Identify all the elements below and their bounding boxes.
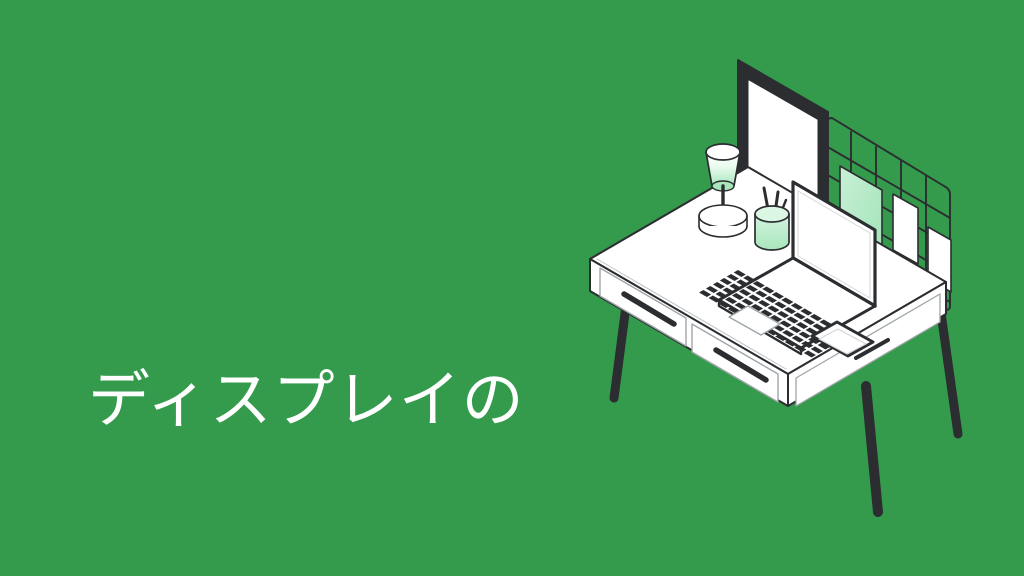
page-title: ディスプレイの 買い替えを検討 [88, 196, 608, 576]
slide-canvas: ディスプレイの 買い替えを検討 白い机の上にノートパソコンと外部ディスプレイ、ラ… [0, 0, 1024, 576]
desk-leg-back-right [940, 306, 958, 434]
page-title-line-1: ディスプレイの [88, 360, 608, 442]
desk-leg-front-right [866, 386, 878, 512]
isometric-desk-illustration: 白い机の上にノートパソコンと外部ディスプレイ、ランプ、ペン立て、ペンタブレットが… [588, 34, 1008, 534]
